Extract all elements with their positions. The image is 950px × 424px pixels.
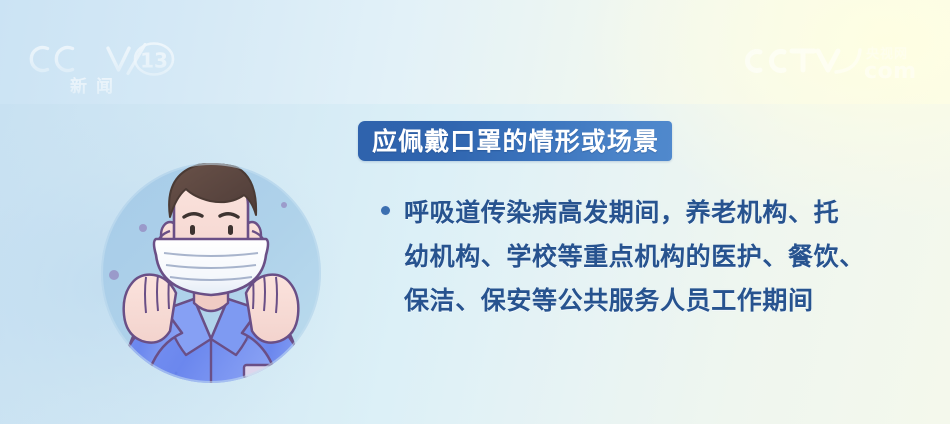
mask-illustration [98, 143, 330, 411]
cctv-letters-icon [31, 48, 129, 71]
slide-title-text: 应佩戴口罩的情形或场景 [372, 129, 659, 154]
cuff-right [276, 375, 304, 387]
bullet-line: 幼机构、学校等重点机构的医护、餐饮、 [404, 235, 901, 279]
broadcast-frame: 13 新闻 央视网 com [0, 0, 950, 424]
background-right-glow [590, 0, 950, 220]
bullet-text-lines: 呼吸道传染病高发期间，养老机构、托 幼机构、学校等重点机构的医护、餐饮、 保洁、… [404, 191, 901, 323]
eye-right [228, 225, 233, 235]
slide-title-banner: 应佩戴口罩的情形或场景 [358, 121, 672, 161]
bullet-line: 保洁、保安等公共服务人员工作期间 [404, 279, 901, 323]
channel-name-text: 新闻 [70, 76, 122, 94]
slide-bullet-list: 呼吸道传染病高发期间，养老机构、托 幼机构、学校等重点机构的医护、餐饮、 保洁、… [381, 191, 901, 323]
bullet-point-icon [381, 206, 390, 215]
hand-left [124, 275, 176, 343]
cctvcom-letters-icon [747, 51, 838, 71]
cctvcom-domain: com [864, 59, 917, 84]
channel-number-text: 13 [140, 49, 168, 73]
cctvcom-watermark: 央视网 com [740, 36, 930, 86]
eye-left [190, 225, 195, 235]
cctv13-logo-watermark: 13 新闻 [24, 32, 184, 94]
hand-right [246, 275, 298, 343]
cuff-left [120, 375, 148, 387]
bullet-line: 呼吸道传染病高发期间，养老机构、托 [404, 191, 901, 235]
